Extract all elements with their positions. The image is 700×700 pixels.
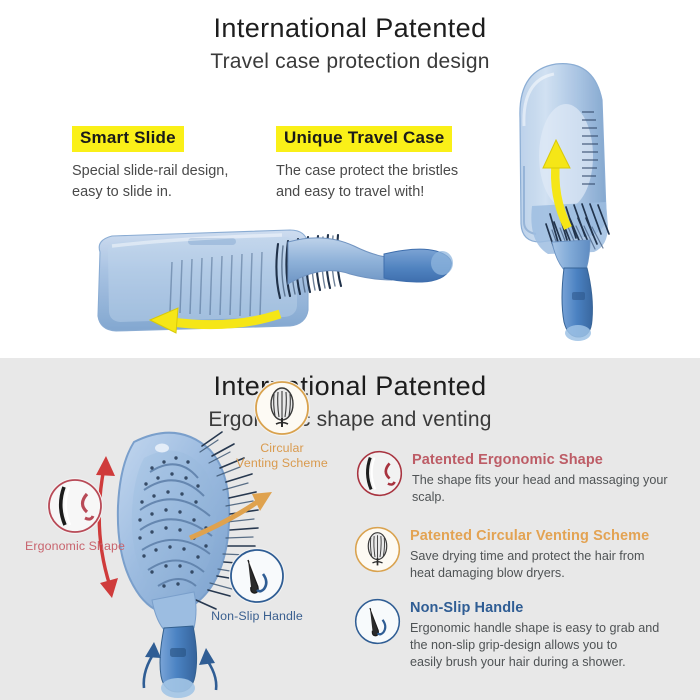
bottom-heading-main: International Patented xyxy=(0,372,700,402)
badge-non-slip-handle-label: Non-Slip Handle xyxy=(196,609,318,624)
callout-unique-travel-case: Unique Travel Case The case protect the … xyxy=(276,126,506,203)
callout-smart-slide-body-line2: easy to slide in. xyxy=(72,182,272,203)
feature-circular-venting-desc-line2: heat damaging blow dryers. xyxy=(410,565,649,582)
brush-sliding-into-travel-case xyxy=(92,218,462,353)
non-slip-handle-icon xyxy=(354,598,401,645)
callout-smart-slide-body-line1: Special slide-rail design, xyxy=(72,161,272,182)
badge-circular-venting: Circular Venting Scheme xyxy=(222,380,342,471)
feature-non-slip-handle-desc-line1: Ergonomic handle shape is easy to grab a… xyxy=(410,620,659,637)
top-panel: International Patented Travel case prote… xyxy=(0,0,700,358)
feature-non-slip-handle-desc: Ergonomic handle shape is easy to grab a… xyxy=(410,620,659,671)
circular-vent-icon xyxy=(254,380,310,436)
badge-circular-venting-label-line1: Circular xyxy=(260,441,303,455)
badge-non-slip-handle: Non-Slip Handle xyxy=(196,548,318,624)
callout-unique-travel-case-body-line2: and easy to travel with! xyxy=(276,182,506,203)
infographic-page: International Patented Travel case prote… xyxy=(0,0,700,700)
callout-unique-travel-case-body: The case protect the bristles and easy t… xyxy=(276,161,506,203)
feature-non-slip-handle-title: Non-Slip Handle xyxy=(410,600,659,617)
feature-non-slip-handle-desc-line3: easily brush your hair during a shower. xyxy=(410,654,659,671)
feature-ergonomic-shape: Patented Ergonomic Shape The shape fits … xyxy=(356,450,692,506)
badge-circular-venting-label-line2: Venting Scheme xyxy=(236,456,328,470)
badge-ergonomic-shape: Ergonomic Shape xyxy=(16,478,134,554)
feature-non-slip-handle-desc-line2: the non-slip grip-design allows you to xyxy=(410,637,659,654)
callout-unique-travel-case-title: Unique Travel Case xyxy=(276,126,452,152)
callout-smart-slide-title: Smart Slide xyxy=(72,126,184,152)
feature-non-slip-handle-text: Non-Slip Handle Ergonomic handle shape i… xyxy=(410,598,659,671)
callout-smart-slide: Smart Slide Special slide-rail design, e… xyxy=(72,126,272,203)
feature-circular-venting: Patented Circular Venting Scheme Save dr… xyxy=(354,526,692,582)
feature-circular-venting-desc-line1: Save drying time and protect the hair fr… xyxy=(410,548,649,565)
badge-circular-venting-label: Circular Venting Scheme xyxy=(227,441,337,471)
feature-ergonomic-shape-text: Patented Ergonomic Shape The shape fits … xyxy=(412,450,692,506)
top-heading-main: International Patented xyxy=(0,14,700,44)
brush-in-travel-case-upright xyxy=(490,56,630,346)
feature-circular-venting-text: Patented Circular Venting Scheme Save dr… xyxy=(410,526,649,582)
non-slip-handle-icon xyxy=(229,548,285,604)
callout-unique-travel-case-body-line1: The case protect the bristles xyxy=(276,161,506,182)
feature-non-slip-handle: Non-Slip Handle Ergonomic handle shape i… xyxy=(354,598,692,671)
badge-ergonomic-shape-label: Ergonomic Shape xyxy=(16,539,134,554)
ergonomic-profile-icon xyxy=(47,478,103,534)
feature-circular-venting-desc: Save drying time and protect the hair fr… xyxy=(410,548,649,582)
feature-ergonomic-shape-desc-line1: The shape fits your head and massaging y… xyxy=(412,472,692,506)
bottom-panel: International Patented Ergonomic shape a… xyxy=(0,358,700,700)
ergonomic-profile-icon xyxy=(356,450,403,497)
feature-circular-venting-title: Patented Circular Venting Scheme xyxy=(410,528,649,545)
callout-smart-slide-body: Special slide-rail design, easy to slide… xyxy=(72,161,272,203)
circular-vent-icon xyxy=(354,526,401,573)
feature-ergonomic-shape-desc: The shape fits your head and massaging y… xyxy=(412,472,692,506)
feature-ergonomic-shape-title: Patented Ergonomic Shape xyxy=(412,452,692,469)
